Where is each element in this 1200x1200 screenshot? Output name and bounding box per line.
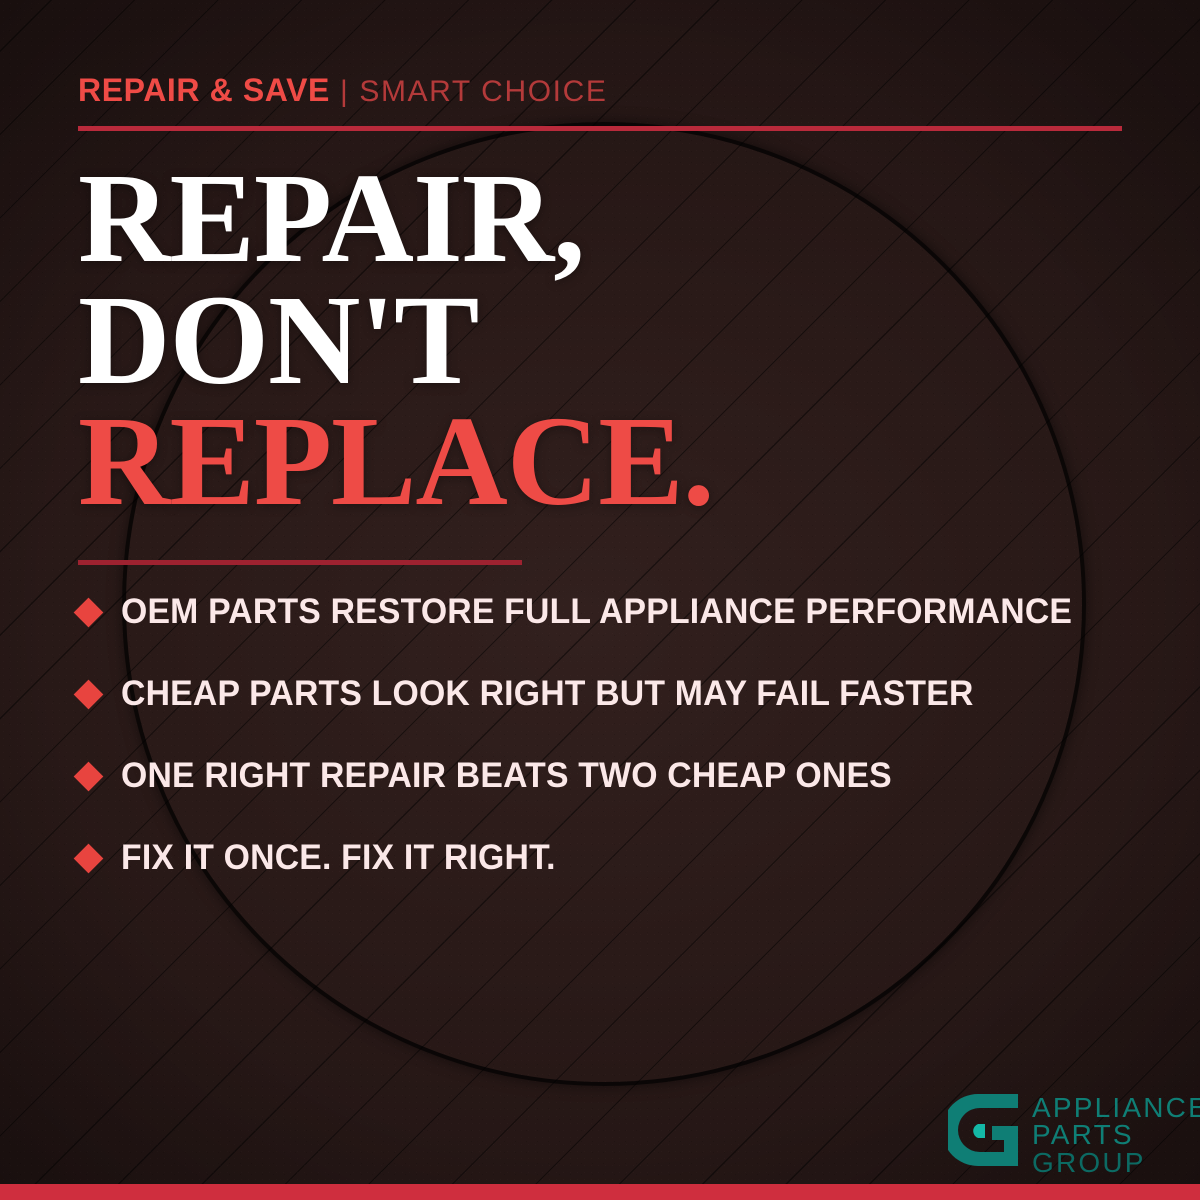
list-item: OEM PARTS RESTORE FULL APPLIANCE PERFORM… [78,588,1148,636]
brand-logo-line-2: PARTS [1032,1121,1200,1148]
brand-logo-line-1: APPLIANCE [1032,1094,1200,1121]
headline-line-2: DON'T [78,280,714,402]
headline-line-3: REPLACE. [78,401,714,523]
brand-logo-wordmark: APPLIANCE PARTS GROUP [1032,1092,1200,1176]
list-item-label: OEM PARTS RESTORE FULL APPLIANCE PERFORM… [121,592,1072,632]
list-item-label: CHEAP PARTS LOOK RIGHT BUT MAY FAIL FAST… [121,674,974,714]
diamond-bullet-icon [74,679,104,709]
header-divider [78,126,1122,131]
poster-content: REPAIR & SAVE| SMART CHOICE REPAIR, DON'… [0,0,1200,1200]
kicker-sub-label: | SMART CHOICE [340,75,607,108]
kicker-main-label: REPAIR & SAVE [78,72,330,108]
bottom-accent-bar [0,1184,1200,1200]
benefits-list: OEM PARTS RESTORE FULL APPLIANCE PERFORM… [78,588,1148,916]
list-item-label: FIX IT ONCE. FIX IT RIGHT. [121,838,556,878]
list-item-label: ONE RIGHT REPAIR BEATS TWO CHEAP ONES [121,756,892,796]
brand-logo: APPLIANCE PARTS GROUP [948,1092,1200,1176]
promo-poster: REPAIR & SAVE| SMART CHOICE REPAIR, DON'… [0,0,1200,1200]
list-item: ONE RIGHT REPAIR BEATS TWO CHEAP ONES [78,752,1148,800]
brand-logo-line-3: GROUP [1032,1149,1200,1176]
diamond-bullet-icon [74,761,104,791]
list-item: CHEAP PARTS LOOK RIGHT BUT MAY FAIL FAST… [78,670,1148,718]
page-title: REPAIR, DON'T REPLACE. [78,158,714,523]
headline-line-1: REPAIR, [78,158,714,280]
section-divider [78,560,522,565]
list-item: FIX IT ONCE. FIX IT RIGHT. [78,834,1148,882]
diamond-bullet-icon [74,597,104,627]
g-monogram-icon [948,1092,1020,1168]
kicker: REPAIR & SAVE| SMART CHOICE [78,74,607,107]
diamond-bullet-icon [74,843,104,873]
